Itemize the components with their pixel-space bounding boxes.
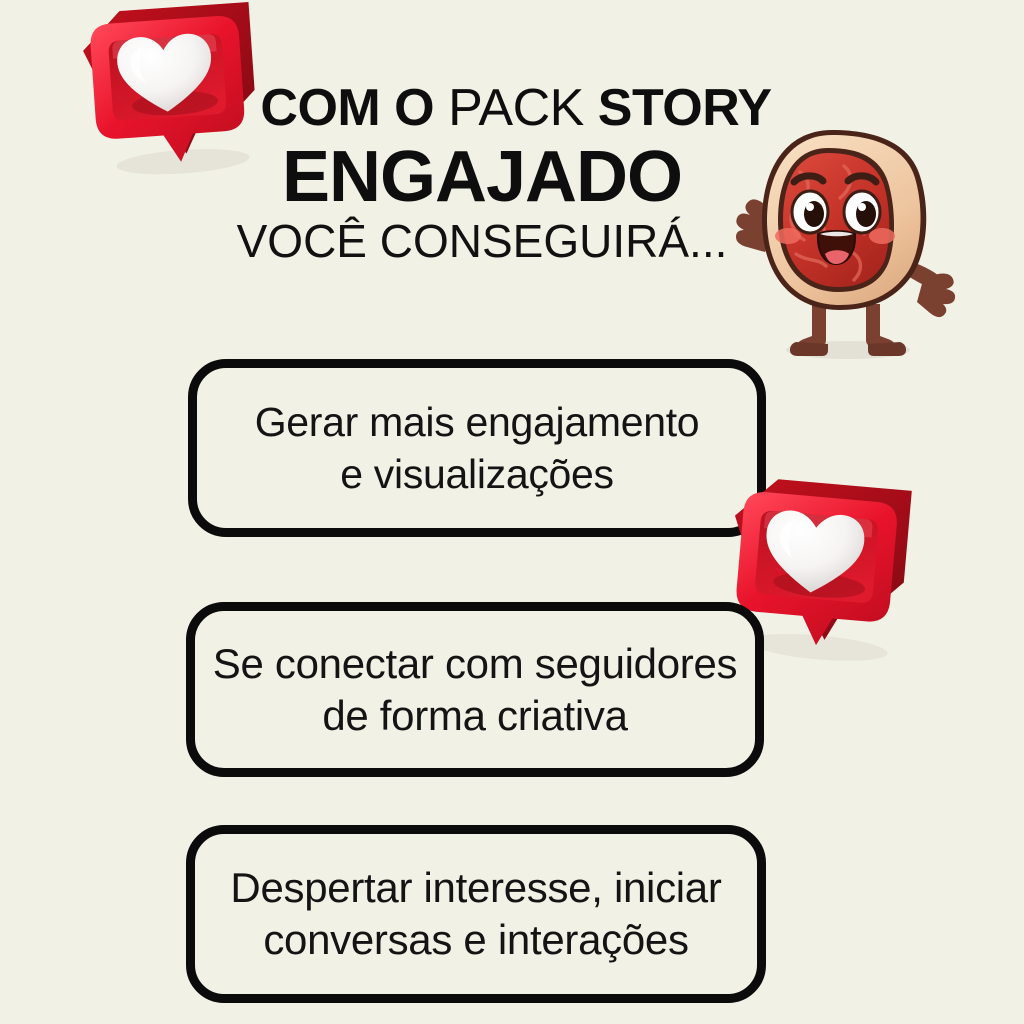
- headline-line-1-part-1: COM O: [260, 79, 448, 137]
- benefit-box-2-text: Se conectar com seguidores de forma cria…: [195, 638, 755, 742]
- headline-line-1: COM O PACK STORY: [0, 80, 1024, 136]
- steak-legs: [790, 304, 906, 356]
- headline-line-1-part-2: PACK: [448, 79, 598, 137]
- benefit-box-1-text: Gerar mais engajamento e visualizações: [197, 396, 757, 500]
- steak-arms: [736, 199, 955, 317]
- benefit-box-3-text: Despertar interesse, iniciar conversas e…: [195, 862, 757, 966]
- benefit-box-3: Despertar interesse, iniciar conversas e…: [186, 825, 766, 1003]
- headline-block: COM O PACK STORY ENGAJADO VOCÊ CONSEGUIR…: [0, 80, 1024, 266]
- headline-line-2: ENGAJADO: [0, 140, 1024, 214]
- poster-canvas: COM O PACK STORY ENGAJADO VOCÊ CONSEGUIR…: [0, 0, 1024, 1024]
- steak-mascot-icon: [722, 112, 974, 364]
- headline-line-3: VOCÊ CONSEGUIRÁ...: [0, 216, 1024, 266]
- heart-bubble-icon: [66, 0, 274, 187]
- benefit-box-2: Se conectar com seguidores de forma cria…: [186, 602, 764, 777]
- headline-line-1-part-3: STORY: [598, 79, 772, 137]
- benefit-box-1: Gerar mais engajamento e visualizações: [188, 359, 766, 537]
- steak-face: [775, 176, 895, 264]
